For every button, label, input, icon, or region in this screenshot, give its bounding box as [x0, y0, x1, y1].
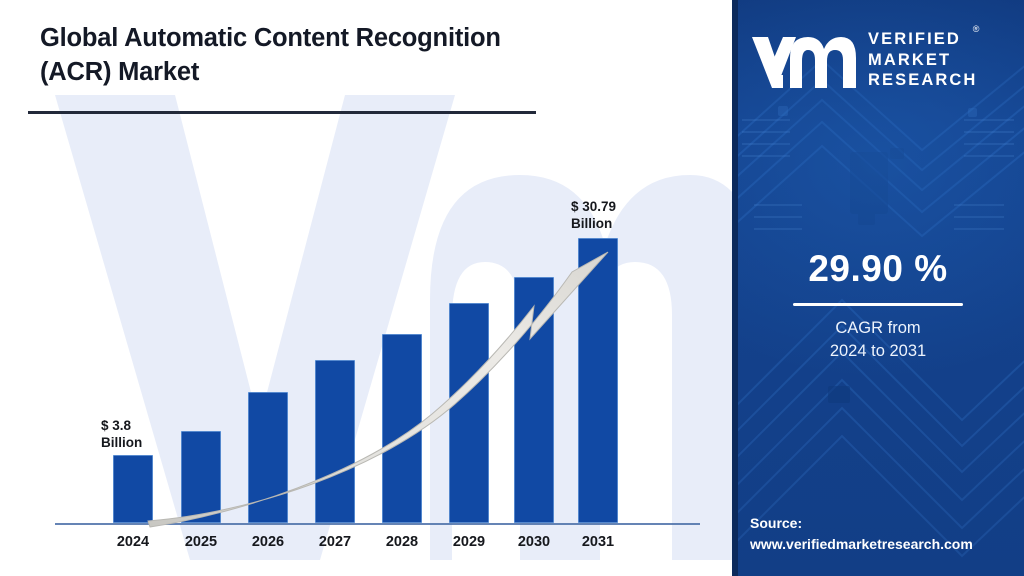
cagr-caption: CAGR from 2024 to 2031: [732, 317, 1024, 364]
bar-2028[interactable]: [382, 334, 422, 523]
x-tick-2028: 2028: [367, 534, 437, 550]
bar-callout-2031: $ 30.79 Billion: [571, 198, 616, 233]
x-axis-line: [55, 523, 700, 525]
cagr-caption-line-1: CAGR from: [732, 317, 1024, 340]
chart-panel: Global Automatic Content Recognition (AC…: [0, 0, 732, 576]
vmr-monogram-icon: [750, 31, 856, 89]
brand-wordmark-line-3: RESEARCH: [868, 70, 977, 91]
brand-wordmark: VERIFIED MARKET RESEARCH ®: [868, 29, 977, 91]
infographic-screenshot: Global Automatic Content Recognition (AC…: [0, 0, 1024, 576]
brand-panel: VERIFIED MARKET RESEARCH ® 29.90 % CAGR …: [732, 0, 1024, 576]
bar-callout-2031-value: $ 30.79: [571, 198, 616, 215]
cagr-divider: [793, 303, 963, 306]
cagr-value: 29.90 %: [732, 248, 1024, 290]
source-label: Source:: [750, 513, 1018, 533]
bar-callout-2024-unit: Billion: [101, 434, 142, 451]
x-tick-2027: 2027: [300, 534, 370, 550]
x-tick-2030: 2030: [499, 534, 569, 550]
bar-2024[interactable]: [113, 455, 153, 523]
plot-area: $ 3.8 Billion $ 30.79 Billion 2024 2025 …: [0, 0, 732, 576]
bar-callout-2031-unit: Billion: [571, 215, 616, 232]
x-tick-2024: 2024: [98, 534, 168, 550]
bar-2030[interactable]: [514, 277, 554, 523]
bar-2031[interactable]: [578, 238, 618, 523]
bar-2029[interactable]: [449, 303, 489, 523]
brand-logo[interactable]: VERIFIED MARKET RESEARCH ®: [750, 22, 1012, 98]
brand-wordmark-line-2: MARKET: [868, 50, 977, 71]
bar-2026[interactable]: [248, 392, 288, 523]
bar-2025[interactable]: [181, 431, 221, 523]
source-url[interactable]: www.verifiedmarketresearch.com: [750, 534, 1018, 554]
brand-wordmark-line-1: VERIFIED: [868, 29, 977, 50]
source-block: Source: www.verifiedmarketresearch.com: [750, 513, 1018, 554]
bar-callout-2024: $ 3.8 Billion: [101, 417, 142, 452]
growth-arrow-icon: [0, 0, 732, 576]
cagr-block: 29.90 % CAGR from 2024 to 2031: [732, 248, 1024, 363]
x-tick-2025: 2025: [166, 534, 236, 550]
x-tick-2031: 2031: [563, 534, 633, 550]
x-tick-2029: 2029: [434, 534, 504, 550]
registered-trademark-icon: ®: [973, 24, 980, 35]
bar-callout-2024-value: $ 3.8: [101, 417, 142, 434]
bar-2027[interactable]: [315, 360, 355, 523]
x-tick-2026: 2026: [233, 534, 303, 550]
cagr-caption-line-2: 2024 to 2031: [732, 340, 1024, 363]
